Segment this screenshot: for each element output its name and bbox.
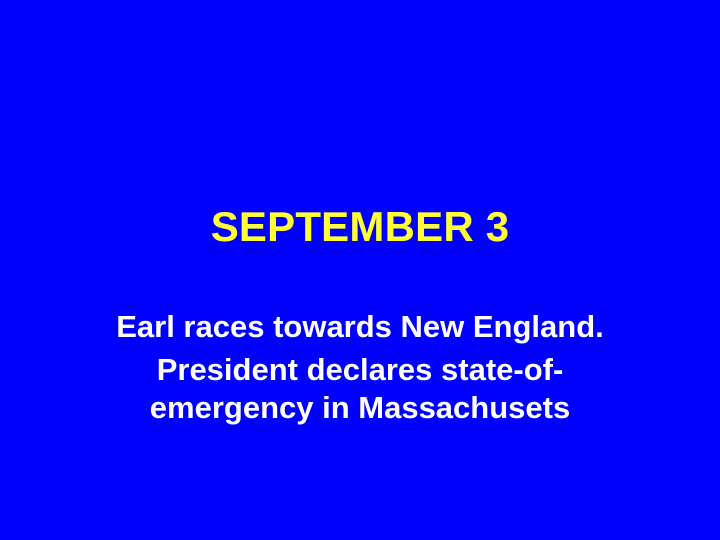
body-line-headline: Earl races towards New England.	[60, 308, 660, 346]
slide-body: Earl races towards New England. Presiden…	[60, 308, 660, 427]
slide-title: SEPTEMBER 3	[0, 204, 720, 250]
presentation-slide: SEPTEMBER 3 Earl races towards New Engla…	[0, 0, 720, 540]
body-line-detail: President declares state-of-emergency in…	[137, 351, 583, 427]
